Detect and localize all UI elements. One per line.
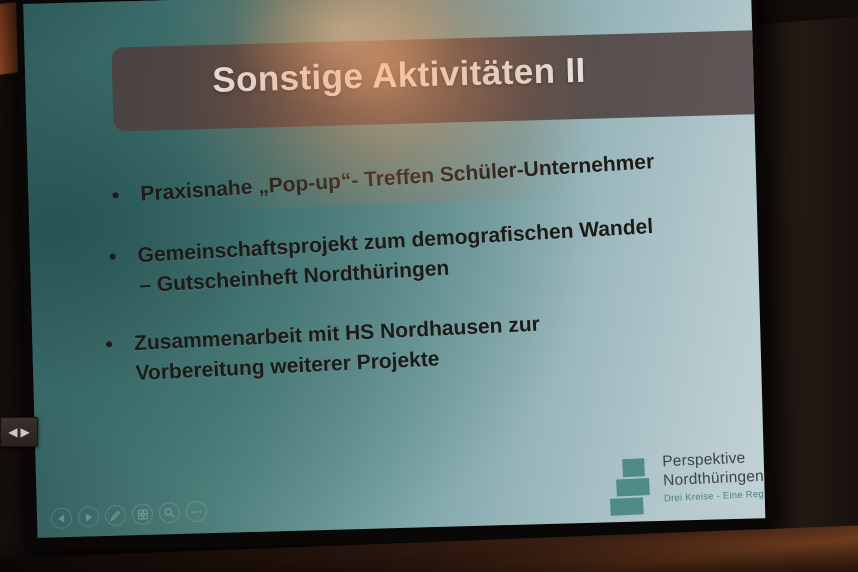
bullet-marker-icon <box>112 192 118 198</box>
wall-control-panel[interactable]: ◀ ▶ <box>0 417 38 447</box>
pen-icon[interactable] <box>105 504 127 526</box>
bullet-item-2: Gemeinschaftsprojekt zum demografischen … <box>109 212 656 302</box>
logo-block-top-icon <box>622 458 645 477</box>
logo-blocks-icon <box>608 458 659 518</box>
bullet-marker-icon <box>106 341 112 347</box>
perspektive-nordthueringen-logo: Perspektive Nordthüringen Drei Kreise - … <box>608 449 765 524</box>
next-slide-icon[interactable] <box>78 506 100 528</box>
more-options-icon[interactable] <box>185 500 207 522</box>
bullet-item-1: Praxisnahe „Pop-up“- Treffen Schüler-Unt… <box>112 147 655 211</box>
logo-block-middle-icon <box>616 478 650 497</box>
wall-panel-left-arrow-icon[interactable]: ◀ <box>8 426 17 438</box>
room-photo-scene: Sonstige Aktivitäten II Praxisnahe „Pop-… <box>0 0 858 572</box>
bullet-item-1-line-1: Praxisnahe „Pop-up“- Treffen Schüler-Unt… <box>140 150 655 206</box>
previous-slide-icon[interactable] <box>51 507 73 529</box>
logo-name-line-2: Nordthüringen <box>663 467 766 491</box>
wall-panel-right-arrow-icon[interactable]: ▶ <box>21 426 30 438</box>
logo-wordmark: Perspektive Nordthüringen Drei Kreise - … <box>662 448 765 504</box>
wall-bottom-shadow <box>0 542 858 572</box>
bullet-marker-icon <box>110 254 116 260</box>
logo-block-bottom-icon <box>610 497 644 516</box>
projection-screen: Sonstige Aktivitäten II Praxisnahe „Pop-… <box>16 0 773 552</box>
logo-tagline: Drei Kreise - Eine Region <box>664 488 766 504</box>
bullet-item-3: Zusammenarbeit mit HS Nordhausen zur Vor… <box>105 310 541 390</box>
slide-grid-icon[interactable] <box>132 503 154 525</box>
magnifier-icon[interactable] <box>158 502 180 524</box>
presentation-slide: Sonstige Aktivitäten II Praxisnahe „Pop-… <box>23 0 765 538</box>
